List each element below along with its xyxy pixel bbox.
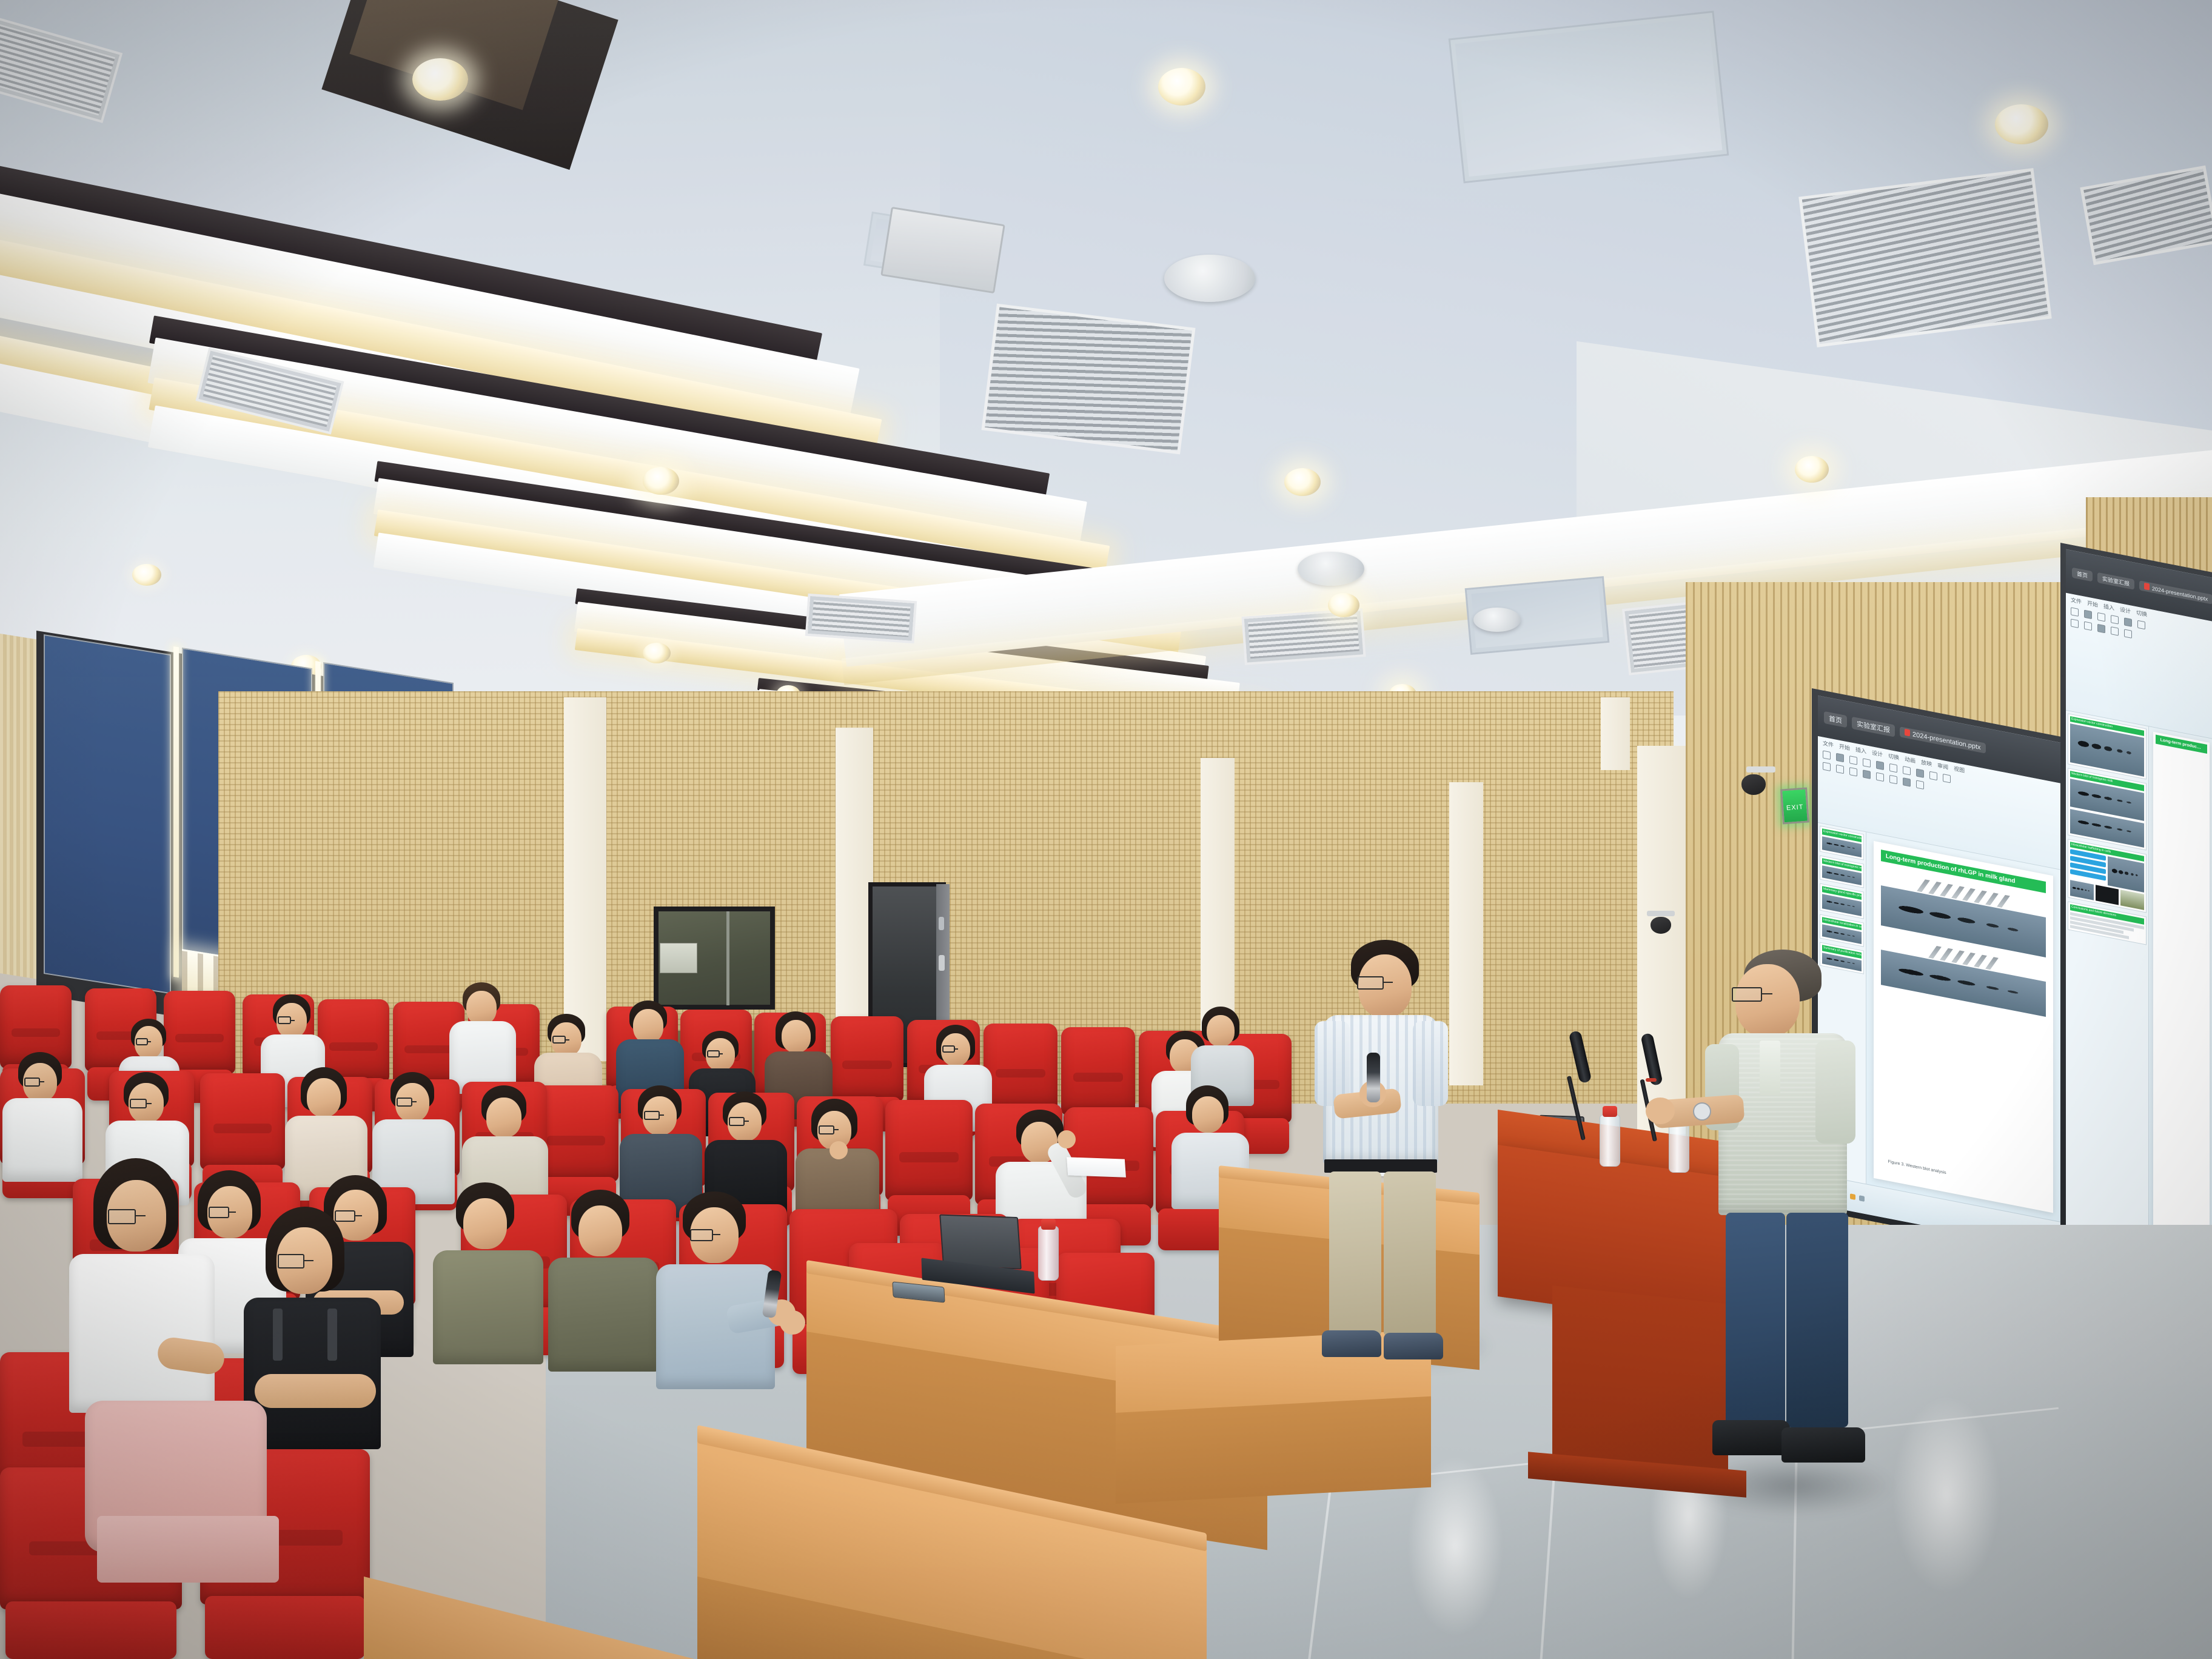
exit-sign: EXIT [1780, 788, 1809, 825]
lecture-hall-photo: EXIT 首页 实验室汇报 2024-presentation.pptx 文件 … [0, 0, 2212, 1659]
wall-pillar-1 [564, 697, 606, 1061]
host-speaker [1313, 940, 1477, 1358]
left-rb-file[interactable]: 文件 [1823, 739, 1834, 749]
floor-reflection-3 [1892, 1395, 2001, 1595]
right-painter-icon[interactable] [2111, 615, 2119, 625]
ceiling-downlight-6 [1795, 456, 1829, 483]
polo-placket [1760, 1041, 1780, 1095]
right-projection-screen[interactable]: 首页 实验室汇报 2024-presentation.pptx 文件 开始 插入… [2060, 543, 2212, 1316]
ceiling-downlight-4 [643, 467, 679, 495]
thumbnail-1[interactable]: Expression vector construction [1820, 826, 1864, 860]
left-rb-review[interactable]: 审阅 [1937, 761, 1948, 771]
underline-icon[interactable] [1849, 767, 1857, 777]
flowchart-column [2070, 849, 2106, 885]
right-color-icon[interactable] [2097, 624, 2105, 634]
right-thumbnail-3[interactable]: Intracellular trafficking in cells [2068, 839, 2147, 913]
wall-camera-2-mount [1647, 911, 1675, 916]
left-rb-design[interactable]: 设计 [1872, 748, 1883, 759]
arrange-icon[interactable] [1903, 777, 1911, 787]
right-slide-canvas[interactable]: Long-term production of rhLGP in milk gl… [2149, 726, 2212, 1273]
blind-gap-1 [173, 646, 179, 977]
water-bottle-desk[interactable] [1038, 1226, 1059, 1281]
right-paste-icon[interactable] [2071, 608, 2079, 617]
host-handheld-microphone [1367, 1053, 1380, 1102]
micrograph-a [2070, 880, 2094, 900]
right-align-icon[interactable] [2111, 627, 2119, 637]
right-thumbnail-1[interactable]: Expression vector construction [2068, 713, 2147, 780]
right-tab-home[interactable]: 首页 [2072, 567, 2093, 581]
right-italic-icon[interactable] [2084, 622, 2092, 631]
hvac-diffuser-3 [981, 304, 1195, 455]
italic-icon[interactable] [1836, 765, 1844, 774]
right-rb-trans[interactable]: 切换 [2136, 609, 2147, 619]
right-rb-design[interactable]: 设计 [2120, 605, 2131, 615]
cut-icon[interactable] [1849, 756, 1857, 765]
right-bold-icon[interactable] [2071, 619, 2079, 629]
hvac-diffuser-8 [805, 594, 917, 643]
right-rb-insert[interactable]: 插入 [2103, 602, 2114, 612]
left-slide-canvas[interactable]: Long-term production of rhLGP in milk gl… [1866, 832, 2060, 1221]
thumbnail-4[interactable]: Intracellular localization in cells [1820, 914, 1864, 947]
audience-member [546, 1190, 667, 1372]
right-screen-surface[interactable]: 首页 实验室汇报 2024-presentation.pptx 文件 开始 插入… [2066, 549, 2212, 1310]
left-rb-show[interactable]: 放映 [1921, 758, 1932, 768]
ceiling-downlight-1 [412, 58, 468, 101]
right-copy-icon[interactable] [2084, 610, 2092, 620]
right-undo-icon[interactable] [2124, 618, 2132, 628]
ceiling-downlight-7 [1328, 593, 1359, 617]
podium-bottle-cap-1 [1603, 1106, 1617, 1117]
ceiling-downlight-5 [1284, 468, 1321, 496]
ceiling-downlight-10 [643, 643, 671, 663]
right-thumbnail-3-micrograph [2108, 856, 2143, 893]
podium-water-bottle-1[interactable] [1600, 1114, 1620, 1167]
podium-speaker [1704, 950, 1880, 1489]
right-slide-navigator[interactable]: Expression vector construction Western b… [2066, 710, 2149, 1261]
right-tab-file[interactable]: 2024-presentation.pptx [2139, 580, 2212, 605]
window-blind-1[interactable] [44, 634, 171, 994]
find-icon[interactable] [1916, 780, 1924, 790]
left-rb-insert[interactable]: 插入 [1855, 745, 1866, 756]
audience-questioner [655, 1191, 806, 1392]
bullets-icon[interactable] [1889, 775, 1897, 785]
right-cut-icon[interactable] [2097, 612, 2105, 622]
textbox-icon[interactable] [1929, 771, 1937, 781]
audience-member [431, 1182, 552, 1364]
left-tab-report[interactable]: 实验室汇报 [1852, 716, 1895, 737]
ceiling-access-panel-1 [1449, 11, 1729, 184]
overall-strap-2 [327, 1309, 337, 1361]
format-painter-icon[interactable] [1863, 759, 1871, 768]
overall-strap-1 [273, 1309, 283, 1361]
micrograph-c [2120, 890, 2144, 910]
smoke-detector-1 [1164, 255, 1255, 302]
audience-member [85, 1401, 285, 1659]
desk-papers-2[interactable] [1067, 1157, 1126, 1178]
undo-icon[interactable] [1876, 761, 1884, 771]
left-rb-view[interactable]: 视图 [1954, 765, 1965, 775]
podium-mic-indicator [1646, 1078, 1657, 1082]
right-rb-file[interactable]: 文件 [2071, 596, 2082, 606]
right-shapes-icon[interactable] [2124, 629, 2132, 639]
ceiling-downlight-3 [1995, 104, 2048, 144]
left-current-slide[interactable]: Long-term production of rhLGP in milk gl… [1874, 841, 2053, 1213]
security-camera-mount [1746, 766, 1775, 773]
control-window-divider [726, 911, 729, 1005]
water-bottle-cap-desk [1041, 1219, 1056, 1230]
door-handle[interactable] [939, 955, 945, 971]
left-rb-anim[interactable]: 动画 [1905, 755, 1915, 765]
left-slide-caption: Figure 3. Western blot analysis [1888, 1159, 1946, 1175]
mid-desk-front [1116, 1396, 1431, 1504]
smoke-detector-3 [1473, 608, 1521, 632]
ceiling-downlight-2 [1158, 68, 1205, 106]
right-screen-workspace: Expression vector construction Western b… [2066, 710, 2212, 1273]
font-color-icon[interactable] [1863, 770, 1871, 780]
right-thumbnail-2[interactable]: Western blot of transgenic milk [2068, 768, 2147, 850]
podium-water-bottle-2[interactable] [1669, 1121, 1689, 1173]
audience-member [67, 1158, 224, 1413]
micrograph-b [2096, 885, 2119, 905]
left-tab-file[interactable]: 2024-presentation.pptx [1900, 726, 1986, 754]
shapes-icon[interactable] [1943, 774, 1951, 783]
smoke-detector-2 [1298, 552, 1364, 586]
align-icon[interactable] [1876, 773, 1884, 782]
right-rb-start[interactable]: 开始 [2087, 599, 2098, 609]
left-rb-start[interactable]: 开始 [1839, 742, 1850, 752]
control-room-poster [660, 943, 697, 973]
wall-corner-white [1601, 697, 1630, 770]
ceiling-downlight-17 [132, 564, 161, 586]
thumbnail-2[interactable]: Western blot of transgenic milk [1820, 855, 1864, 888]
wall-camera-2 [1651, 917, 1671, 934]
paste-icon[interactable] [1823, 751, 1831, 760]
left-rb-trans[interactable]: 切换 [1888, 752, 1899, 762]
security-camera [1741, 774, 1766, 795]
new-slide-icon[interactable] [1903, 766, 1911, 776]
right-slide-title: Long-term production of rhLGP in milk gl… [2156, 734, 2207, 754]
exit-sign-label: EXIT [1782, 789, 1808, 826]
wristwatch [1693, 1102, 1711, 1121]
copy-icon[interactable] [1836, 753, 1844, 763]
door-hinge [939, 917, 944, 930]
redo-icon[interactable] [1889, 763, 1897, 773]
bold-icon[interactable] [1823, 762, 1831, 772]
right-redo-icon[interactable] [2137, 620, 2145, 630]
layout-icon[interactable] [1916, 769, 1924, 779]
thumbnail-3[interactable]: Mammary gland specific promoter [1820, 883, 1864, 919]
hvac-diffuser-4 [1798, 168, 2052, 347]
left-tab-home[interactable]: 首页 [1824, 711, 1847, 727]
right-current-slide[interactable]: Long-term production of rhLGP in milk gl… [2153, 732, 2210, 1269]
right-tab-report[interactable]: 实验室汇报 [2097, 572, 2134, 590]
